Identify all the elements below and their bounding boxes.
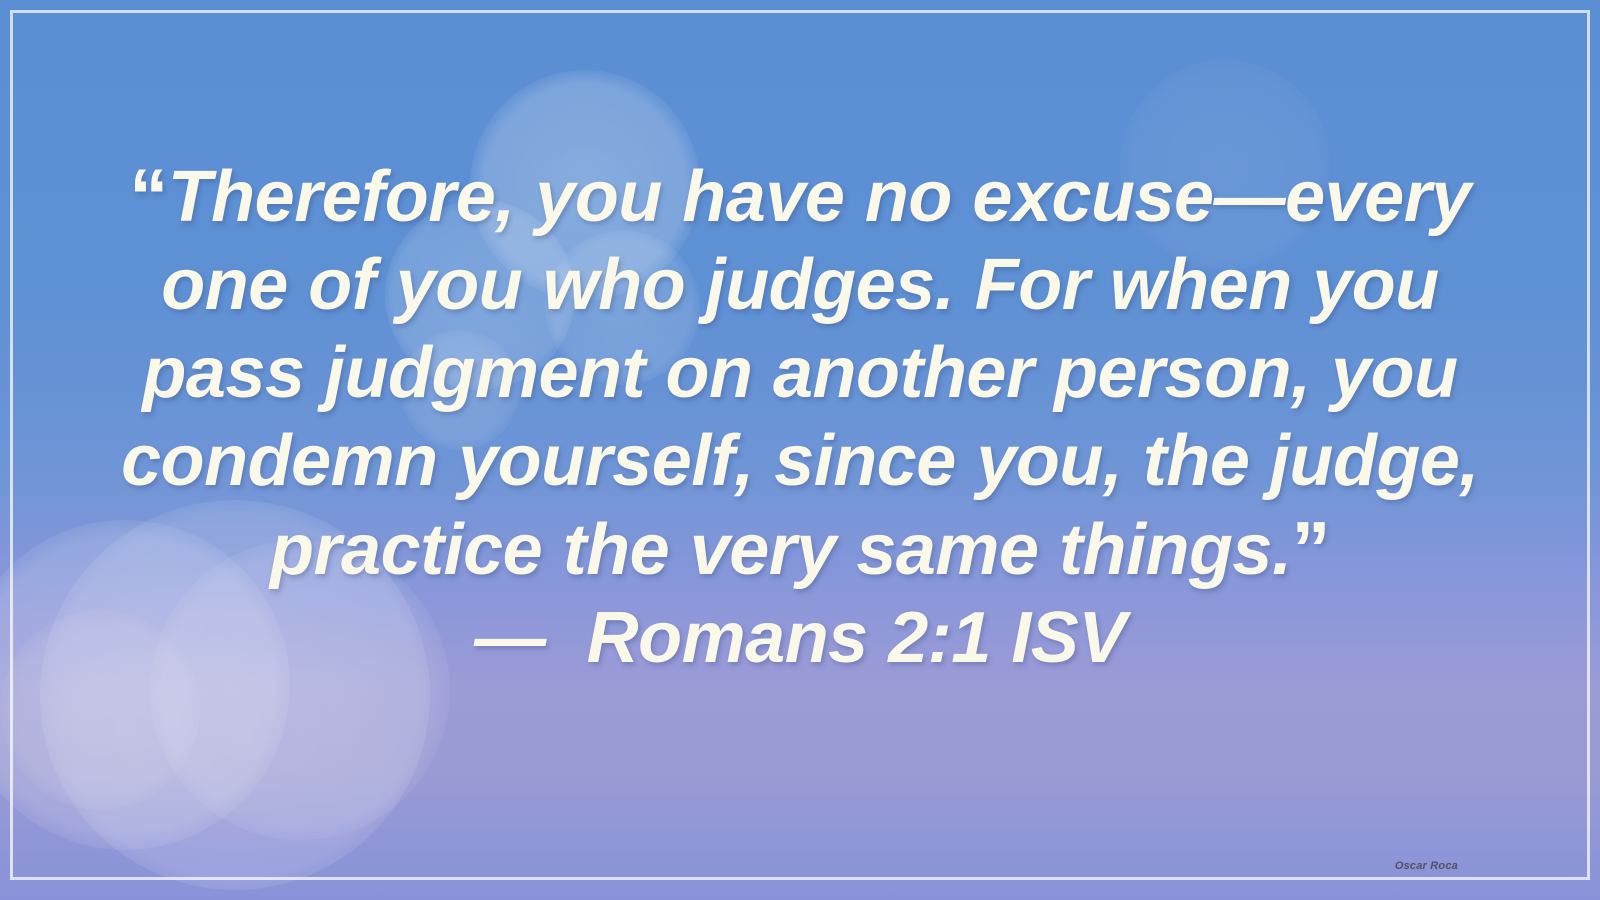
quote-body: Therefore, you have no excuse—every one … bbox=[121, 157, 1479, 590]
open-quote-icon: “ bbox=[129, 152, 168, 240]
quote-card: “Therefore, you have no excuse—every one… bbox=[0, 0, 1600, 900]
quote-citation: Romans 2:1 ISV bbox=[587, 598, 1126, 678]
em-dash: — bbox=[474, 598, 546, 678]
quote-block: “Therefore, you have no excuse—every one… bbox=[0, 0, 1600, 682]
credit-label: Oscar Roca bbox=[1395, 860, 1458, 872]
close-quote-icon: ” bbox=[1291, 505, 1330, 593]
quote-text: “Therefore, you have no excuse—every one… bbox=[120, 152, 1480, 682]
